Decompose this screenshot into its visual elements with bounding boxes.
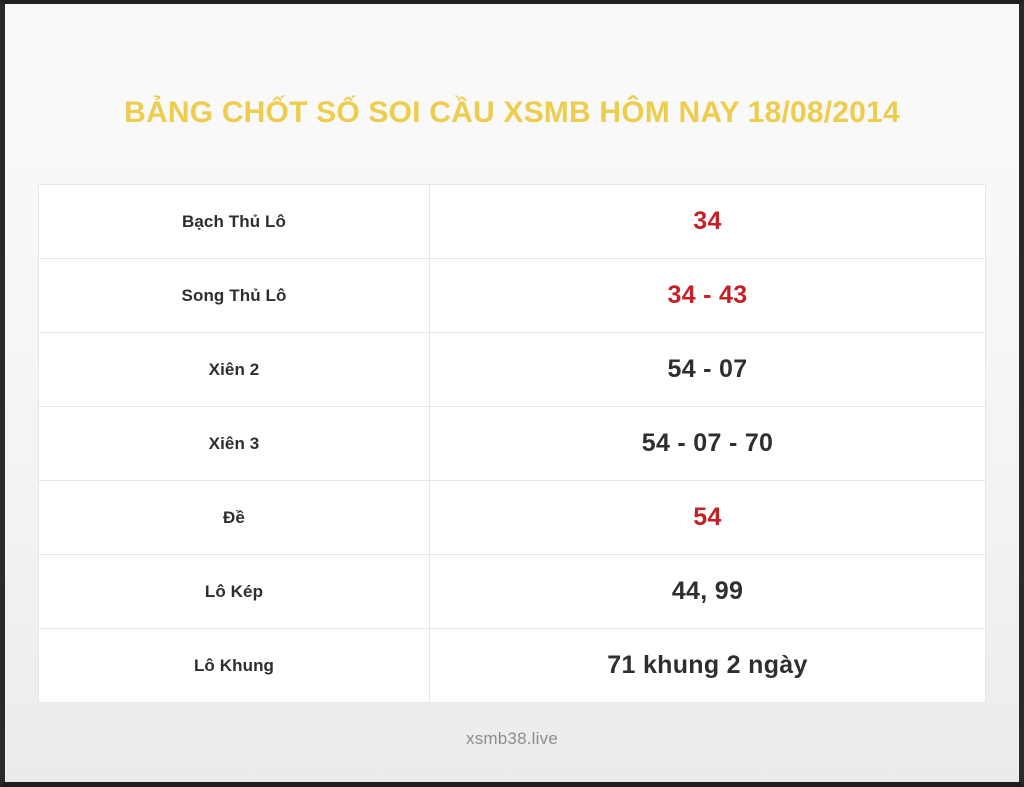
table-row: Song Thủ Lô 34 - 43: [39, 259, 986, 333]
soi-cau-table: Bạch Thủ Lô 34 Song Thủ Lô 34 - 43 Xiên …: [38, 184, 986, 703]
soi-cau-table-container: Bạch Thủ Lô 34 Song Thủ Lô 34 - 43 Xiên …: [38, 184, 986, 703]
table-row: Bạch Thủ Lô 34: [39, 185, 986, 259]
row-value: 34 - 43: [430, 259, 986, 333]
row-value: 34: [430, 185, 986, 259]
row-label: Xiên 2: [39, 333, 430, 407]
row-label: Đề: [39, 481, 430, 555]
footer: xsmb38.live: [5, 729, 1019, 749]
row-label: Xiên 3: [39, 407, 430, 481]
page-title: BẢNG CHỐT SỐ SOI CẦU XSMB HÔM NAY 18/08/…: [124, 98, 900, 128]
row-value: 54 - 07: [430, 333, 986, 407]
table-row: Đề 54: [39, 481, 986, 555]
row-label: Song Thủ Lô: [39, 259, 430, 333]
row-label: Lô Khung: [39, 629, 430, 703]
table-row: Lô Khung 71 khung 2 ngày: [39, 629, 986, 703]
row-label: Lô Kép: [39, 555, 430, 629]
title-container: BẢNG CHỐT SỐ SOI CẦU XSMB HÔM NAY 18/08/…: [5, 78, 1019, 148]
table-row: Xiên 2 54 - 07: [39, 333, 986, 407]
row-value: 44, 99: [430, 555, 986, 629]
row-label: Bạch Thủ Lô: [39, 185, 430, 259]
site-credit: xsmb38.live: [466, 729, 558, 748]
table-row: Xiên 3 54 - 07 - 70: [39, 407, 986, 481]
table-body: Bạch Thủ Lô 34 Song Thủ Lô 34 - 43 Xiên …: [39, 185, 986, 703]
row-value: 71 khung 2 ngày: [430, 629, 986, 703]
table-row: Lô Kép 44, 99: [39, 555, 986, 629]
page-root: BẢNG CHỐT SỐ SOI CẦU XSMB HÔM NAY 18/08/…: [0, 0, 1024, 787]
row-value: 54 - 07 - 70: [430, 407, 986, 481]
row-value: 54: [430, 481, 986, 555]
